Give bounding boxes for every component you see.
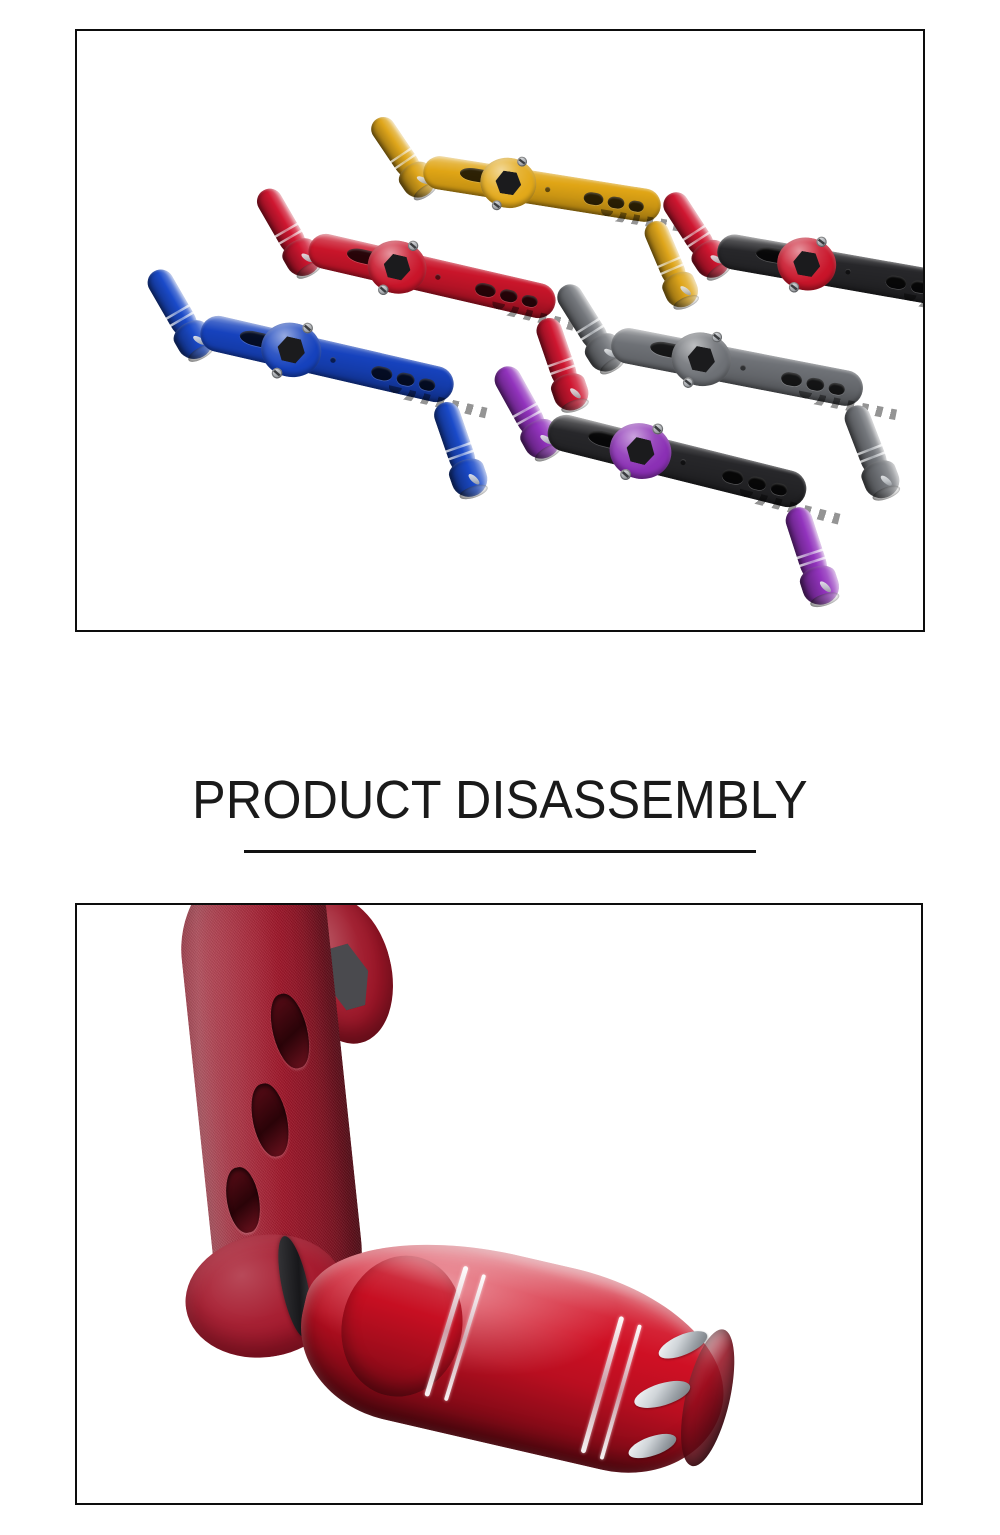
arm-slot: [628, 200, 645, 213]
arm-slot: [721, 467, 745, 485]
arm-slot: [395, 371, 415, 387]
screw-icon: [491, 200, 502, 211]
handle-arm: [608, 325, 866, 409]
arm-slot: [474, 281, 497, 298]
handle-gold-knob-left: [362, 109, 441, 203]
closeup-knob: [283, 1211, 745, 1493]
arm-slot: [607, 196, 625, 210]
arm-scallops: [901, 293, 925, 320]
knob-face: [458, 482, 490, 502]
arm-slot: [418, 377, 437, 392]
product-detail-page: PRODUCT DISASSEMBLY: [0, 0, 1000, 1535]
page-title: PRODUCT DISASSEMBLY: [35, 772, 965, 828]
arm-slot: [780, 371, 803, 388]
arm-slot: [583, 191, 604, 206]
handle-arm: [421, 154, 663, 225]
arm-slot: [499, 288, 519, 304]
knob-face: [809, 590, 841, 611]
handle-arm: [305, 230, 559, 321]
hex-hole: [624, 435, 658, 466]
screw-icon: [788, 281, 800, 293]
section-header: PRODUCT DISASSEMBLY: [0, 772, 1000, 853]
arm-slot: [910, 279, 925, 294]
hex-hole: [791, 250, 822, 278]
arm-slot: [521, 294, 539, 309]
closeup-panel: Diamond knife highlight processing: [75, 903, 923, 1505]
hex-hole: [275, 335, 308, 365]
handle-red-knob-left: [247, 181, 326, 281]
color-variants-panel: [75, 29, 925, 632]
knob-face: [871, 483, 902, 504]
arm-slot: [805, 377, 825, 392]
hex-hole: [381, 252, 413, 282]
arm-slot: [370, 365, 394, 383]
hex-hole: [686, 345, 718, 374]
title-underline: [244, 850, 756, 853]
handle-arm: [197, 312, 458, 405]
arm-slot: [747, 475, 768, 492]
closeup-photo: [77, 905, 921, 1503]
handle-arm: [544, 411, 810, 511]
arm-slot: [828, 382, 846, 396]
arm-slot: [770, 481, 789, 496]
handle-blue-knob-left: [138, 262, 219, 365]
hex-hole: [494, 170, 523, 197]
arm-slot: [885, 274, 908, 290]
